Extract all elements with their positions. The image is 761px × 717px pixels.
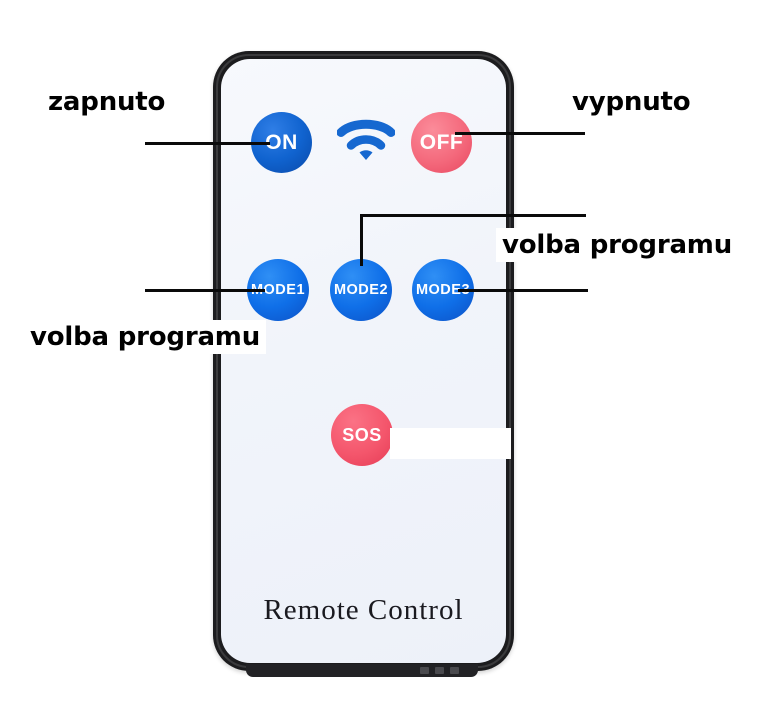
leader-line-zapnuto — [145, 142, 270, 145]
annotation-zapnuto: zapnuto — [42, 85, 171, 119]
annotation-volba-programu-right: volba programu — [496, 228, 738, 262]
mode2-button[interactable]: MODE2 — [330, 259, 392, 321]
sos-button[interactable]: SOS — [331, 404, 393, 466]
leader-line-mode2-horizontal — [360, 214, 586, 217]
lip-notch — [435, 667, 444, 674]
lip-notch — [450, 667, 459, 674]
annotation-volba-programu-left: volba programu — [24, 320, 266, 354]
brand-label: Remote Control — [221, 594, 506, 627]
leader-line-mode1 — [145, 289, 265, 292]
wifi-icon — [337, 119, 395, 165]
label-mask-strip — [390, 428, 511, 459]
leader-line-mode2-vertical — [360, 214, 363, 266]
annotation-vypnuto: vypnuto — [566, 85, 696, 119]
leader-line-mode3 — [458, 289, 588, 292]
lip-notch — [420, 667, 429, 674]
off-button[interactable]: OFF — [411, 112, 472, 173]
remote-control-diagram: ON OFF MODE1 MODE2 MODE3 SOS Remote Cont… — [0, 0, 761, 717]
remote-bottom-lip — [246, 664, 478, 677]
leader-line-vypnuto — [455, 132, 585, 135]
